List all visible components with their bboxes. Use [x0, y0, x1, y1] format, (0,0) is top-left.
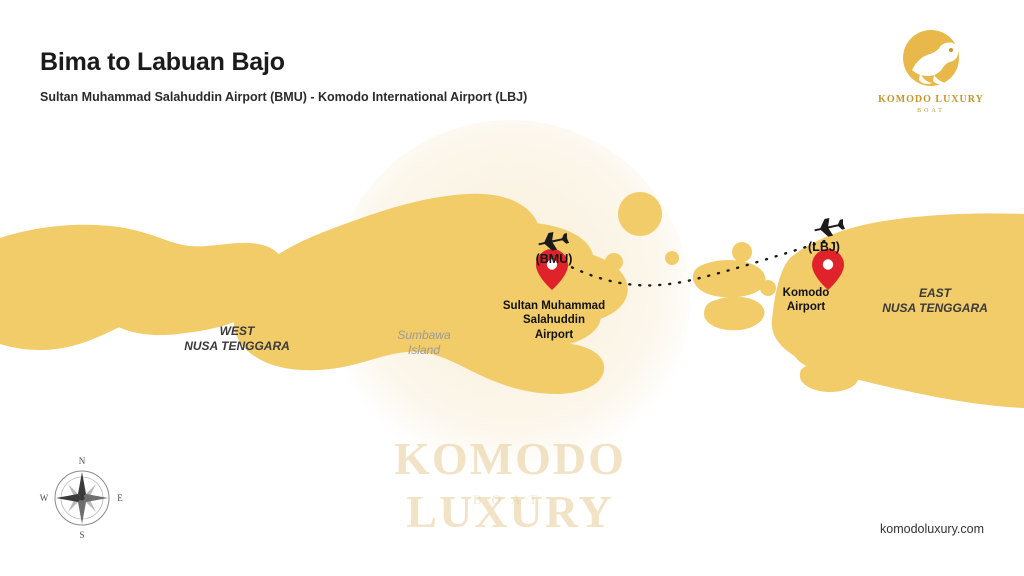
land-islet-5 [732, 242, 752, 262]
land-islet-1 [618, 192, 662, 236]
komodo-dragon-logo-icon [876, 28, 986, 94]
page-title: Bima to Labuan Bajo [40, 48, 285, 77]
destination-name-line2: Airport [750, 300, 862, 314]
page-subtitle: Sultan Muhammad Salahuddin Airport (BMU)… [40, 90, 527, 104]
compass-east-label: E [117, 493, 123, 503]
region-west-line2: NUSA TENGGARA [162, 339, 312, 354]
origin-airport-label: Sultan Muhammad Salahuddin Airport [478, 299, 630, 342]
brand-sub: BOAT [876, 108, 986, 114]
origin-name-line3: Airport [478, 328, 630, 342]
compass-rose-icon: N S E W [38, 450, 126, 542]
origin-name-line2: Salahuddin [478, 313, 630, 327]
destination-code-label: (LBJ) [776, 240, 872, 256]
region-east-line2: NUSA TENGGARA [860, 301, 1010, 316]
destination-airport-label: Komodo Airport [750, 286, 862, 315]
destination-name-line1: Komodo [750, 286, 862, 300]
region-east-line1: EAST [860, 286, 1010, 301]
compass-west-label: W [40, 493, 49, 503]
compass-north-label: N [79, 456, 86, 466]
site-url[interactable]: komodoluxury.com [880, 522, 984, 536]
region-label-west: WEST NUSA TENGGARA [162, 324, 312, 354]
map-poster: KOMODO LUXURY BOAT [0, 0, 1024, 576]
origin-name-line1: Sultan Muhammad [478, 299, 630, 313]
compass-rose: N S E W [38, 450, 126, 542]
compass-south-label: S [79, 530, 84, 540]
island-line1: Sumbawa [368, 328, 480, 343]
land-south-islet-1 [800, 363, 859, 392]
land-islet-3 [665, 251, 679, 265]
origin-code-label: (BMU) [496, 252, 612, 268]
region-label-east: EAST NUSA TENGGARA [860, 286, 1010, 316]
island-label-sumbawa: Sumbawa Island [368, 328, 480, 358]
island-line2: Island [368, 343, 480, 358]
brand-logo[interactable]: KOMODO LUXURY BOAT [876, 28, 986, 128]
brand-name: KOMODO LUXURY [876, 94, 986, 105]
region-west-line1: WEST [162, 324, 312, 339]
